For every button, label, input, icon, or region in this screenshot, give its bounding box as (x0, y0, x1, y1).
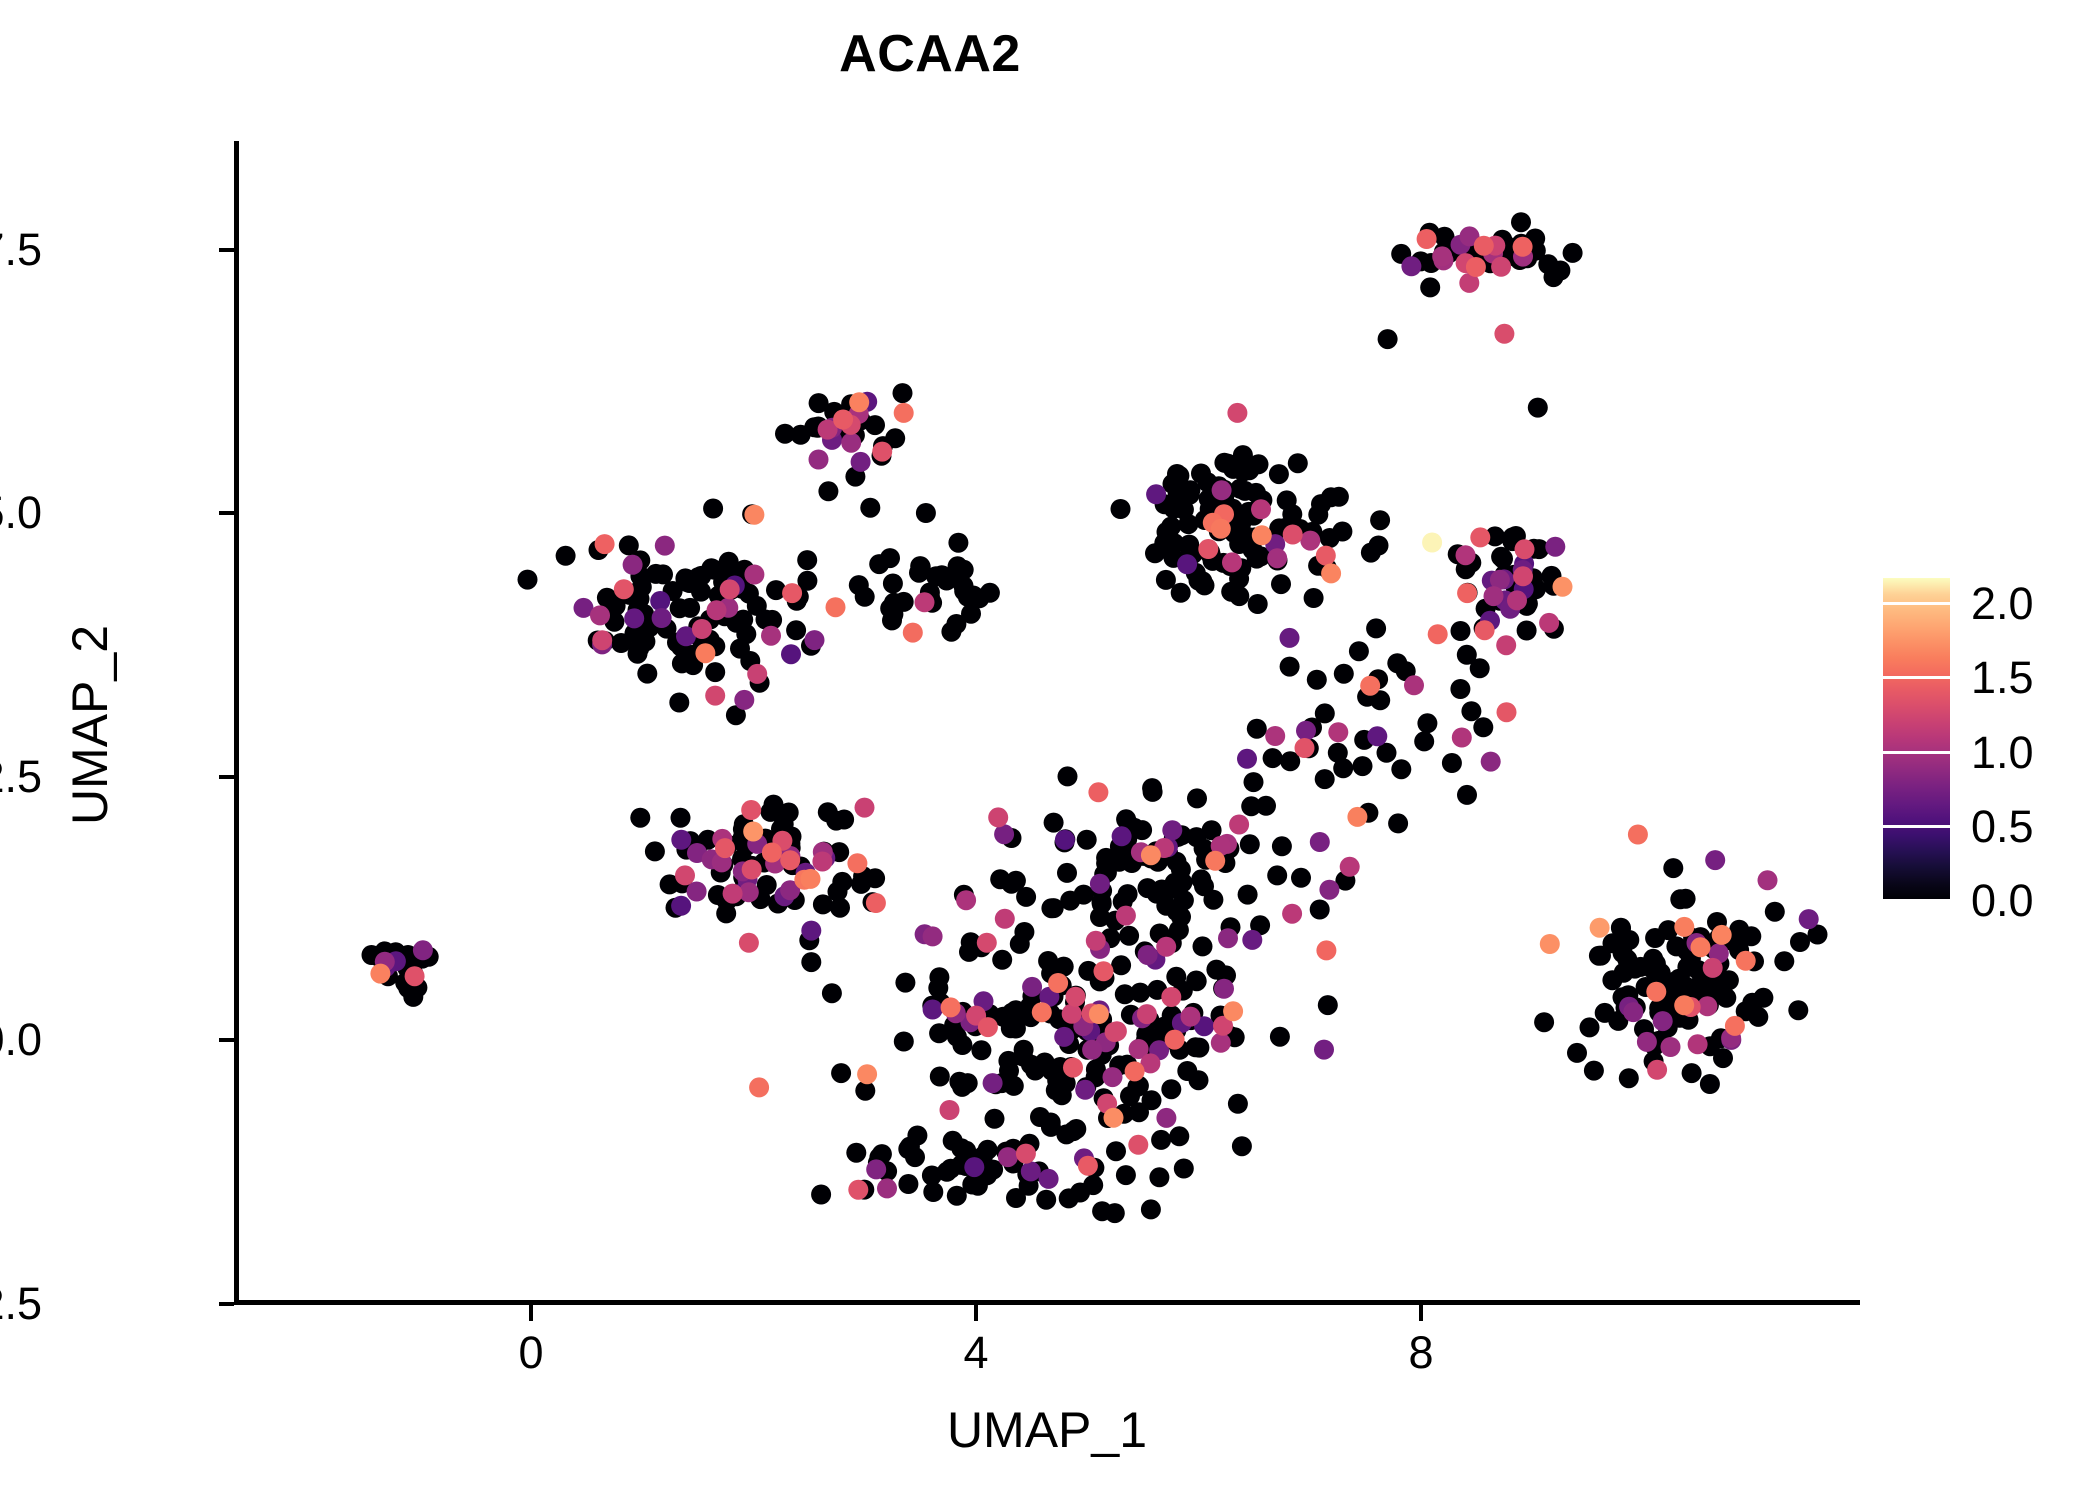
scatter-point (630, 808, 650, 828)
scatter-point (1703, 958, 1723, 978)
scatter-point (869, 554, 889, 574)
scatter-point (959, 942, 979, 962)
scatter-point (1104, 1108, 1124, 1128)
colorbar-tick-label: 2.0 (1971, 581, 2034, 626)
scatter-point (1369, 536, 1389, 556)
scatter-point (597, 588, 617, 608)
scatter-point (1151, 1130, 1171, 1150)
scatter-point (1349, 641, 1369, 661)
scatter-point (883, 574, 903, 594)
scatter-point (1366, 618, 1386, 638)
scatter-point (941, 622, 961, 642)
scatter-point (1161, 987, 1181, 1007)
scatter-point (1628, 825, 1648, 845)
scatter-point (1056, 1124, 1076, 1144)
scatter-point (1256, 796, 1276, 816)
scatter-point (671, 808, 691, 828)
scatter-point (1475, 620, 1495, 640)
scatter-point (1141, 1199, 1161, 1219)
scatter-point (1646, 982, 1666, 1002)
scatter-point (1545, 537, 1565, 557)
scatter-point (556, 546, 576, 566)
scatter-point (1240, 834, 1260, 854)
scatter-point (978, 1140, 998, 1160)
scatter-point (958, 1073, 978, 1093)
x-tick-mark (1419, 1305, 1423, 1321)
scatter-point (797, 550, 817, 570)
scatter-point (624, 608, 644, 628)
scatter-point (1169, 920, 1189, 940)
scatter-point (923, 1000, 943, 1020)
scatter-point (652, 608, 672, 628)
scatter-point (1316, 940, 1336, 960)
scatter-point (1214, 979, 1234, 999)
scatter-point (405, 966, 425, 986)
scatter-point (1307, 670, 1327, 690)
scatter-point (1316, 546, 1336, 566)
scatter-point (1252, 525, 1272, 545)
scatter-point (812, 852, 832, 872)
scatter-point (916, 503, 936, 523)
y-tick-mark (219, 248, 234, 252)
scatter-point (671, 830, 691, 850)
scatter-point (834, 810, 854, 830)
scatter-point (985, 1109, 1005, 1129)
scatter-point (1165, 1030, 1185, 1050)
scatter-point (761, 626, 781, 646)
scatter-point (595, 534, 615, 554)
scatter-point (1288, 453, 1308, 473)
scatter-point (1111, 499, 1131, 519)
colorbar-tick-label: 0.0 (1971, 878, 2034, 923)
scatter-point (1623, 1002, 1643, 1022)
scatter-point (1451, 621, 1471, 641)
scatter-point (1688, 1034, 1708, 1054)
scatter-point (781, 644, 801, 664)
scatter-point (1238, 885, 1258, 905)
scatter-point (1074, 885, 1094, 905)
scatter-point (1222, 552, 1242, 572)
scatter-point (1235, 481, 1255, 501)
scatter-point (1539, 613, 1559, 633)
scatter-point (1189, 1038, 1209, 1058)
scatter-point (855, 798, 875, 818)
scatter-point (1244, 772, 1264, 792)
scatter-point (846, 1143, 866, 1163)
scatter-point (1736, 951, 1756, 971)
scatter-point (841, 433, 861, 453)
scatter-point (1242, 930, 1262, 950)
scatter-point (1677, 957, 1697, 977)
scatter-point (937, 1162, 957, 1182)
y-tick-mark (219, 775, 234, 779)
scatter-point (998, 1147, 1018, 1167)
scatter-point (1141, 845, 1161, 865)
scatter-point (1321, 487, 1341, 507)
scatter-point (1086, 931, 1106, 951)
scatter-point (1378, 329, 1398, 349)
scatter-point (650, 591, 670, 611)
scatter-point (749, 1077, 769, 1097)
colorbar-tick (1883, 899, 1950, 902)
scatter-point (941, 997, 961, 1017)
scatter-point (1315, 769, 1335, 789)
scatter-point (1456, 545, 1476, 565)
scatter-point (830, 898, 850, 918)
scatter-point (1248, 594, 1268, 614)
scatter-point (898, 1174, 918, 1194)
scatter-point (1166, 967, 1186, 987)
scatter-point (1452, 728, 1472, 748)
scatter-point (1719, 970, 1739, 990)
scatter-point (1088, 782, 1108, 802)
colorbar-tick-label: 0.5 (1971, 804, 2034, 849)
scatter-point (1162, 820, 1182, 840)
scatter-point (1229, 815, 1249, 835)
scatter-point (1497, 702, 1517, 722)
y-tick-label: -2.5 (0, 1281, 42, 1326)
scatter-point (1119, 926, 1139, 946)
scatter-point (849, 392, 869, 412)
scatter-point (1420, 277, 1440, 297)
scatter-point (865, 868, 885, 888)
scatter-point (675, 865, 695, 885)
scatter-point (1318, 995, 1338, 1015)
scatter-point (860, 498, 880, 518)
scatter-point (980, 583, 1000, 603)
scatter-point (1041, 898, 1061, 918)
scatter-point (1149, 1167, 1169, 1187)
scatter-point (1466, 257, 1486, 277)
scatter-point (1725, 1016, 1745, 1036)
scatter-point (669, 693, 689, 713)
scatter-point (707, 600, 727, 620)
scatter-point (687, 882, 707, 902)
scatter-point (703, 499, 723, 519)
scatter-point (1128, 1135, 1148, 1155)
scatter-point (780, 850, 800, 870)
scatter-point (847, 853, 867, 873)
scatter-point (971, 1040, 991, 1060)
scatter-point (719, 552, 739, 572)
scatter-point (1032, 1002, 1052, 1022)
scatter-point (1691, 937, 1711, 957)
scatter-point (1790, 932, 1810, 952)
scatter-point (1765, 902, 1785, 922)
scatter-point (786, 620, 806, 640)
scatter-point (1223, 1001, 1243, 1021)
scatter-point (1014, 922, 1034, 942)
scatter-point (1165, 533, 1185, 553)
scatter-point (1360, 676, 1380, 696)
plot-panel (234, 141, 1860, 1304)
scatter-point (822, 983, 842, 1003)
colorbar-tick (1883, 751, 1950, 754)
scatter-point (1174, 890, 1194, 910)
scatter-point (1048, 973, 1068, 993)
scatter-point (695, 643, 715, 663)
scatter-point (992, 950, 1012, 970)
scatter-point (1308, 505, 1328, 525)
scatter-point (1138, 945, 1158, 965)
scatter-point (791, 425, 811, 445)
scatter-point (1186, 971, 1206, 991)
scatter-point (1082, 1040, 1102, 1060)
scatter-point (692, 619, 712, 639)
scatter-point (923, 926, 943, 946)
colorbar-tick (1883, 676, 1950, 679)
scatter-point (782, 583, 802, 603)
scatter-point (1044, 813, 1064, 833)
scatter-point (1481, 752, 1501, 772)
scatter-point (1269, 464, 1289, 484)
scatter-point (671, 896, 691, 916)
scatter-point (744, 505, 764, 525)
scatter-point (964, 1157, 984, 1177)
scatter-point (831, 1063, 851, 1083)
y-axis-line (234, 141, 239, 1305)
scatter-point (1272, 836, 1292, 856)
scatter-point (1310, 900, 1330, 920)
scatter-point (1675, 976, 1695, 996)
scatter-point (629, 638, 649, 658)
scatter-point (1129, 1102, 1149, 1122)
scatter-point (1177, 554, 1197, 574)
scatter-point (1388, 813, 1408, 833)
scatter-point (1328, 722, 1348, 742)
scatter-point (747, 664, 767, 684)
scatter-point (1473, 717, 1493, 737)
scatter-point (1493, 549, 1513, 569)
scatter-point (1016, 1144, 1036, 1164)
y-tick-mark (219, 1302, 234, 1306)
scatter-point (1176, 484, 1196, 504)
scatter-point (1169, 1126, 1189, 1146)
scatter-point (1181, 1007, 1201, 1027)
scatter-point (1265, 726, 1285, 746)
scatter-point (1603, 933, 1623, 953)
scatter-point (1232, 1136, 1252, 1156)
scatter-point (1112, 826, 1132, 846)
scatter-point (1682, 1063, 1702, 1083)
scatter-point (1319, 880, 1339, 900)
scatter-point (1006, 1000, 1026, 1020)
scatter-point (1055, 830, 1075, 850)
scatter-point (370, 964, 390, 984)
scatter-point (1457, 785, 1477, 805)
x-axis-title: UMAP_1 (234, 1405, 1860, 1455)
scatter-point (1283, 525, 1303, 545)
scatter-point (866, 1159, 886, 1179)
scatter-point (1674, 995, 1694, 1015)
scatter-point (1211, 519, 1231, 539)
scatter-point (1428, 624, 1448, 644)
scatter-point (1156, 937, 1176, 957)
scatter-point (1039, 1169, 1059, 1189)
x-tick-label: 0 (471, 1330, 591, 1375)
scatter-point (1187, 788, 1207, 808)
scatter-point (1663, 858, 1683, 878)
scatter-point (1174, 1159, 1194, 1179)
scatter-point (1103, 1067, 1123, 1087)
scatter-point (1646, 954, 1666, 974)
scatter-point (1106, 1141, 1126, 1161)
scatter-point (1059, 1188, 1079, 1208)
scatter-point (1271, 574, 1291, 594)
scatter-point (1212, 480, 1232, 500)
scatter-point (1496, 635, 1516, 655)
scatter-point (762, 843, 782, 863)
scatter-point (1513, 237, 1533, 257)
scatter-point (1227, 403, 1247, 423)
scatter-point (1022, 977, 1042, 997)
scatter-point (894, 1032, 914, 1052)
scatter-point (1799, 909, 1819, 929)
scatter-point (1295, 738, 1315, 758)
scatter-point (1401, 256, 1421, 276)
scatter-point (1340, 857, 1360, 877)
scatter-point (1001, 1018, 1021, 1038)
scatter-point (1267, 865, 1287, 885)
scatter-point (1484, 586, 1504, 606)
scatter-point (1030, 1107, 1050, 1127)
scatter-point (1249, 454, 1269, 474)
scatter-point (1619, 1068, 1639, 1088)
scatter-point (1540, 934, 1560, 954)
scatter-point (1138, 878, 1158, 898)
scatter-point (894, 403, 914, 423)
scatter-point (940, 1100, 960, 1120)
scatter-point (1125, 1061, 1145, 1081)
scatter-point (988, 807, 1008, 827)
scatter-point (1300, 531, 1320, 551)
scatter-point (1218, 454, 1238, 474)
scatter-point (1661, 1037, 1681, 1057)
scatter-point (1198, 539, 1218, 559)
scatter-point (1442, 753, 1462, 773)
scatter-point (895, 973, 915, 993)
scatter-point (932, 565, 952, 585)
scatter-point (1432, 246, 1452, 266)
scatter-point (1089, 1004, 1109, 1024)
scatter-point (809, 450, 829, 470)
scatter-point (1647, 1060, 1667, 1080)
scatter-point (1450, 679, 1470, 699)
y-tick-mark (219, 1038, 234, 1042)
scatter-point (833, 410, 853, 430)
scatter-point (1291, 868, 1311, 888)
scatter-point (1092, 892, 1112, 912)
scatter-point (1367, 726, 1387, 746)
scatter-point (1590, 918, 1610, 938)
scatter-point (905, 1147, 925, 1167)
scatter-point (1700, 979, 1720, 999)
scatter-point (1320, 528, 1340, 548)
scatter-point (1130, 983, 1150, 1003)
scatter-point (1280, 657, 1300, 677)
colorbar-tick-label: 1.5 (1971, 655, 2034, 700)
scatter-point (1417, 713, 1437, 733)
scatter-point (637, 664, 657, 684)
scatter-point (1211, 1033, 1231, 1053)
scatter-point (1083, 1175, 1103, 1195)
x-axis-line (234, 1300, 1860, 1305)
scatter-point (1058, 766, 1078, 786)
scatter-point (1474, 236, 1494, 256)
scatter-point (1580, 1017, 1600, 1037)
scatter-point (1461, 701, 1481, 721)
scatter-point (1387, 653, 1407, 673)
scatter-point (1205, 851, 1225, 871)
scatter-point (930, 1067, 950, 1087)
scatter-point (1171, 583, 1191, 603)
scatter-point (983, 1073, 1003, 1093)
scatter-point (705, 662, 725, 682)
scatter-point (952, 1035, 972, 1055)
scatter-point (1251, 499, 1271, 519)
scatter-point (915, 592, 935, 612)
scatter-point (1036, 1190, 1056, 1210)
scatter-point (923, 1182, 943, 1202)
scatter-point (1142, 778, 1162, 798)
scatter-point (1021, 1161, 1041, 1181)
scatter-point (1470, 658, 1490, 678)
scatter-point (1066, 987, 1086, 1007)
scatter-point (1189, 571, 1209, 591)
scatter-point (1758, 870, 1778, 890)
scatter-point (909, 563, 929, 583)
scatter-point (1194, 876, 1214, 896)
scatter-point (813, 894, 833, 914)
scatter-points-layer (234, 141, 1860, 1304)
scatter-point (734, 690, 754, 710)
scatter-point (1713, 1048, 1733, 1068)
scatter-point (1753, 988, 1773, 1008)
scatter-point (801, 869, 821, 889)
scatter-point (1584, 1061, 1604, 1081)
scatter-point (614, 579, 634, 599)
scatter-point (1105, 1203, 1125, 1223)
scatter-point (518, 570, 538, 590)
scatter-point (1353, 756, 1373, 776)
scatter-point (1116, 906, 1136, 926)
scatter-point (1670, 889, 1690, 909)
scatter-point (1370, 510, 1390, 530)
scatter-point (947, 1186, 967, 1206)
scatter-point (645, 841, 665, 861)
scatter-point (857, 1064, 877, 1084)
scatter-point (872, 442, 892, 462)
y-tick-label: 5.0 (0, 490, 42, 535)
scatter-point (1653, 1011, 1673, 1031)
scatter-point (705, 686, 725, 706)
scatter-point (801, 921, 821, 941)
scatter-point (949, 562, 969, 582)
scatter-point (1553, 577, 1573, 597)
scatter-point (1156, 896, 1176, 916)
scatter-point (1457, 583, 1477, 603)
scatter-point (1118, 884, 1138, 904)
scatter-point (1094, 961, 1114, 981)
y-tick-label: 0.0 (0, 1017, 42, 1062)
colorbar-gradient (1883, 578, 1950, 900)
scatter-point (811, 1185, 831, 1205)
scatter-point (1314, 1040, 1334, 1060)
scatter-point (1280, 628, 1300, 648)
scatter-point (1788, 1000, 1808, 1020)
scatter-point (1189, 1070, 1209, 1090)
scatter-point (1417, 229, 1437, 249)
